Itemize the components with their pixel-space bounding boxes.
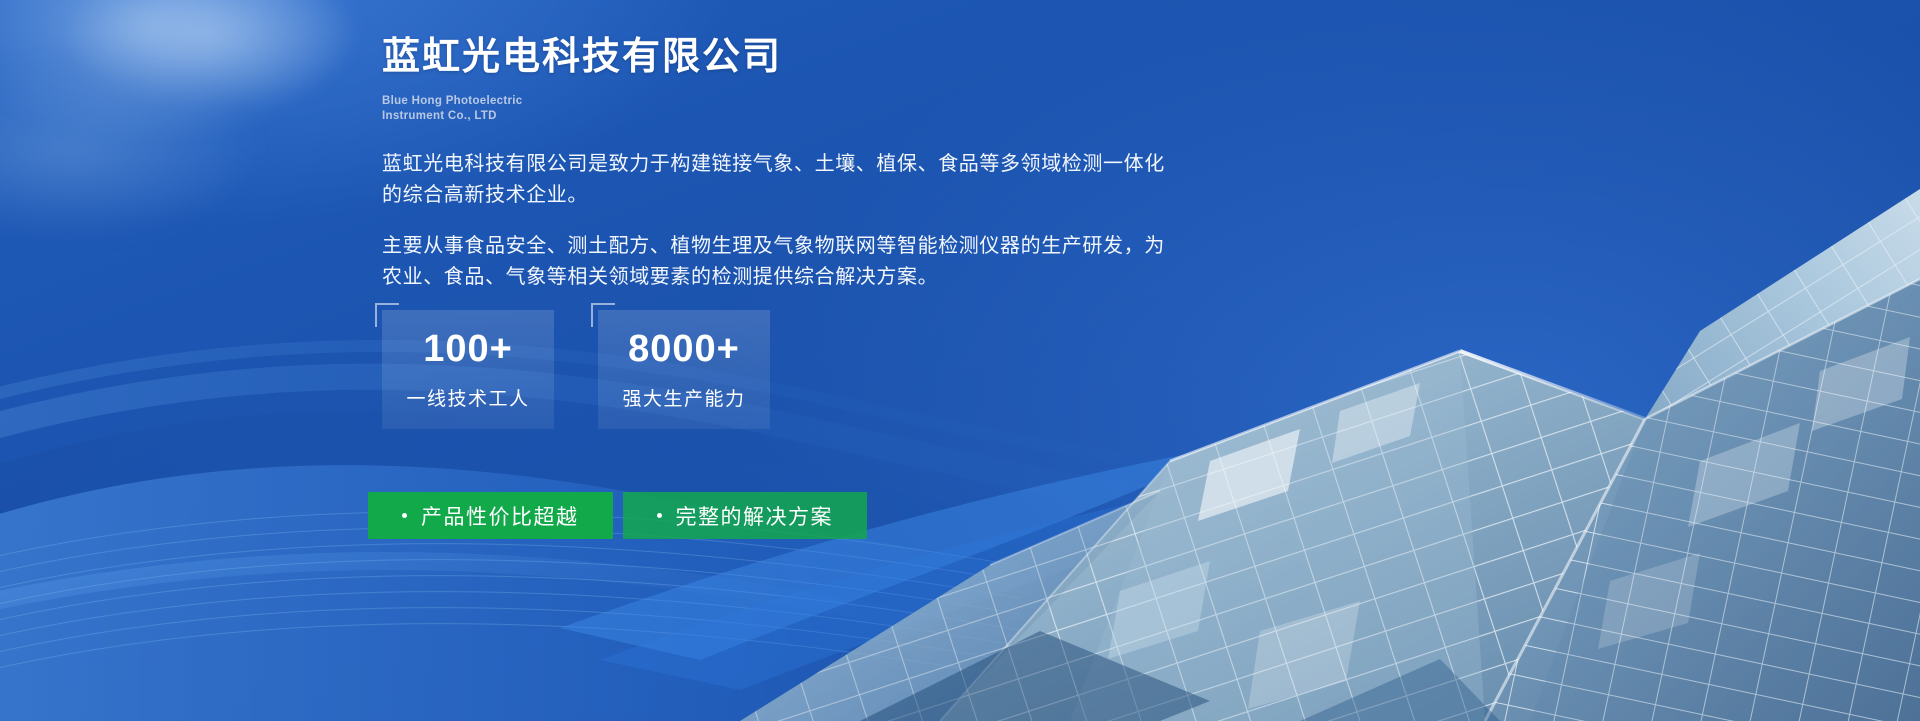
feature-tag-solution[interactable]: 完整的解决方案	[623, 492, 868, 539]
bullet-dot-icon	[657, 513, 662, 518]
banner-content: 蓝虹光电科技有限公司 Blue Hong Photoelectric Instr…	[382, 34, 1202, 293]
stats-group: 100+ 一线技术工人 8000+ 强大生产能力	[382, 310, 770, 429]
description-paragraph-2: 主要从事食品安全、测土配方、植物生理及气象物联网等智能检测仪器的生产研发，为农业…	[382, 231, 1182, 293]
subtitle-line-2: Instrument Co., LTD	[382, 109, 1202, 125]
bullet-dot-icon	[402, 513, 407, 518]
hero-banner: 蓝虹光电科技有限公司 Blue Hong Photoelectric Instr…	[0, 0, 1920, 721]
stat-label: 一线技术工人	[382, 384, 554, 411]
stat-number: 8000+	[598, 330, 770, 370]
description-paragraph-1: 蓝虹光电科技有限公司是致力于构建链接气象、土壤、植保、食品等多领域检测一体化的综…	[382, 149, 1182, 211]
feature-tags-group: 产品性价比超越 完整的解决方案	[368, 492, 867, 539]
feature-tag-label: 产品性价比超越	[421, 501, 579, 531]
stat-card-workers: 100+ 一线技术工人	[382, 310, 554, 429]
stat-number: 100+	[382, 330, 554, 370]
feature-tag-value[interactable]: 产品性价比超越	[368, 492, 613, 539]
page-title: 蓝虹光电科技有限公司	[382, 34, 1202, 82]
company-subtitle-en: Blue Hong Photoelectric Instrument Co., …	[382, 94, 1202, 125]
feature-tag-label: 完整的解决方案	[676, 501, 834, 531]
stat-card-capacity: 8000+ 强大生产能力	[598, 310, 770, 429]
stat-label: 强大生产能力	[598, 384, 770, 411]
subtitle-line-1: Blue Hong Photoelectric	[382, 94, 1202, 110]
